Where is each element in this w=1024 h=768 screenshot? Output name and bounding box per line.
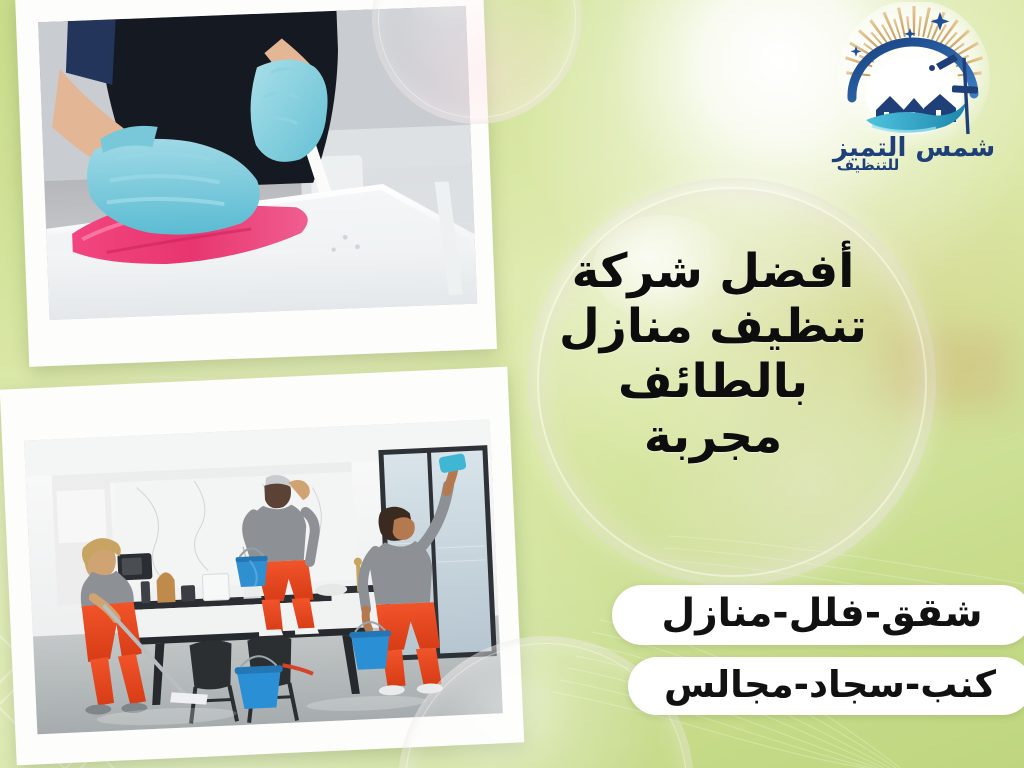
services-badge-properties[interactable]: شقق-فلل-منازل	[612, 585, 1024, 645]
photo-cleaning-team-kitchen	[0, 367, 524, 766]
headline-line-4: مجربة	[520, 409, 906, 464]
page-title: أفضل شركة تنظيف منازل بالطائف مجربة	[520, 244, 906, 464]
photo-gloved-hands-cleaning	[15, 0, 497, 367]
services-badge-furniture[interactable]: كنب-سجاد-مجالس	[628, 657, 1024, 715]
headline-line-3: بالطائف	[520, 354, 906, 409]
services-badge-properties-label: شقق-فلل-منازل	[661, 591, 982, 636]
logo-tagline: للتنظيف	[837, 156, 900, 174]
photo-cleaning-team-kitchen-image	[24, 420, 503, 735]
services-badge-furniture-label: كنب-سجاد-مجالس	[664, 663, 996, 706]
headline-line-1: أفضل شركة	[520, 244, 906, 299]
sunburst-houses-squeegee-logo: شمس التميز للتنظيف	[814, 2, 1014, 178]
company-logo[interactable]: شمس التميز للتنظيف	[814, 2, 1014, 178]
promo-poster: شمس التميز للتنظيف أفضل شركة تنظيف منازل…	[0, 0, 1024, 768]
photo-gloved-hands-cleaning-image	[38, 6, 477, 320]
headline-line-2: تنظيف منازل	[520, 299, 906, 354]
